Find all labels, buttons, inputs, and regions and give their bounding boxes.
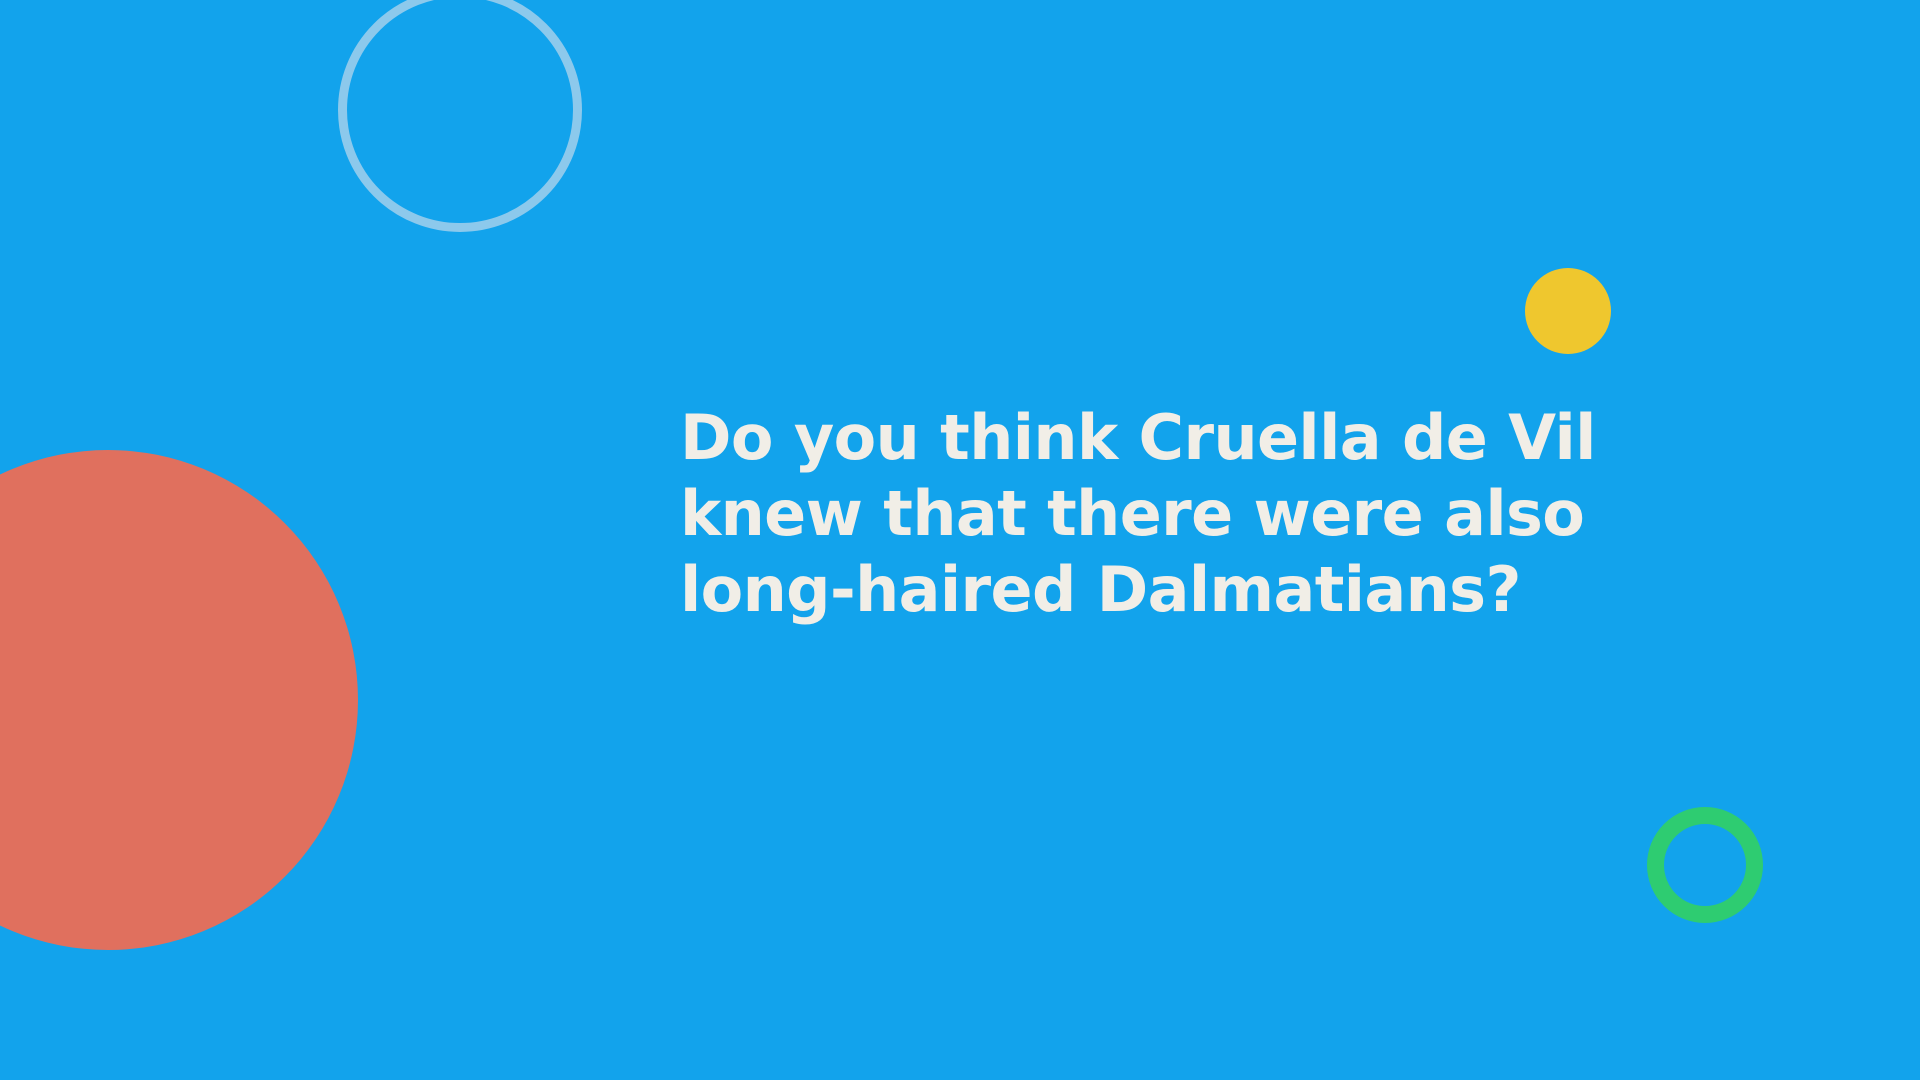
headline-text-block: Do you think Cruella de Vil knew that th… xyxy=(680,400,1670,628)
decorative-circle-yellow-icon xyxy=(1525,268,1611,354)
slide-canvas: Do you think Cruella de Vil knew that th… xyxy=(0,0,1920,1080)
decorative-circle-salmon-icon xyxy=(0,450,358,950)
decorative-ring-lightblue-icon xyxy=(338,0,582,232)
headline-line-3: long-haired Dalmatians? xyxy=(680,552,1670,628)
decorative-ring-green-icon xyxy=(1647,807,1763,923)
headline-line-1: Do you think Cruella de Vil xyxy=(680,400,1670,476)
headline-line-2: knew that there were also xyxy=(680,476,1670,552)
